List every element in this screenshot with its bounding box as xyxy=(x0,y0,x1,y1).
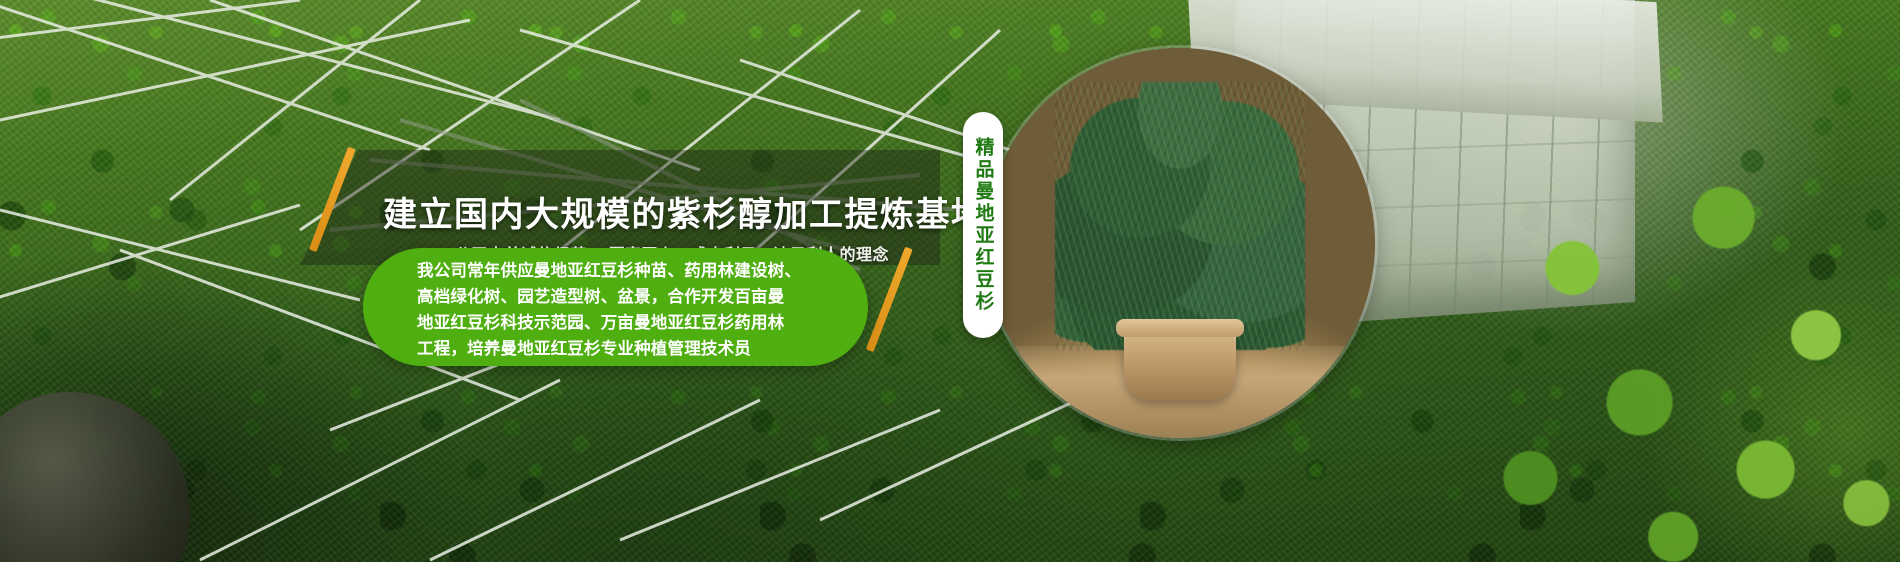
info-panel-text: 我公司常年供应曼地亚红豆杉种苗、药用林建设树、 高档绿化树、园艺造型树、盆景，合… xyxy=(417,258,837,362)
vertical-product-label: 精品曼地亚红豆杉 xyxy=(963,112,1003,338)
info-line-1: 我公司常年供应曼地亚红豆杉种苗、药用林建设树、 xyxy=(417,258,837,284)
planter-pot xyxy=(1124,328,1236,400)
banner-headline: 建立国内大规模的紫杉醇加工提炼基地 xyxy=(383,198,987,232)
info-line-3: 地亚红豆杉科技示范园、万亩曼地亚红豆杉药用林 xyxy=(417,310,837,336)
info-line-4: 工程，培养曼地亚红豆杉专业种植管理技术员 xyxy=(417,336,837,362)
grape-vine-leaves xyxy=(1480,142,1900,562)
vertical-label-text: 精品曼地亚红豆杉 xyxy=(974,137,993,313)
yew-tree-foliage xyxy=(1055,82,1305,350)
promotional-banner: 建立国内大规模的紫杉醇加工提炼基地 公司本着诚信经营、 顾客至上、成人利己、达己… xyxy=(0,0,1900,562)
product-photo-circle xyxy=(985,48,1375,438)
info-line-2: 高档绿化树、园艺造型树、盆景，合作开发百亩曼 xyxy=(417,284,837,310)
